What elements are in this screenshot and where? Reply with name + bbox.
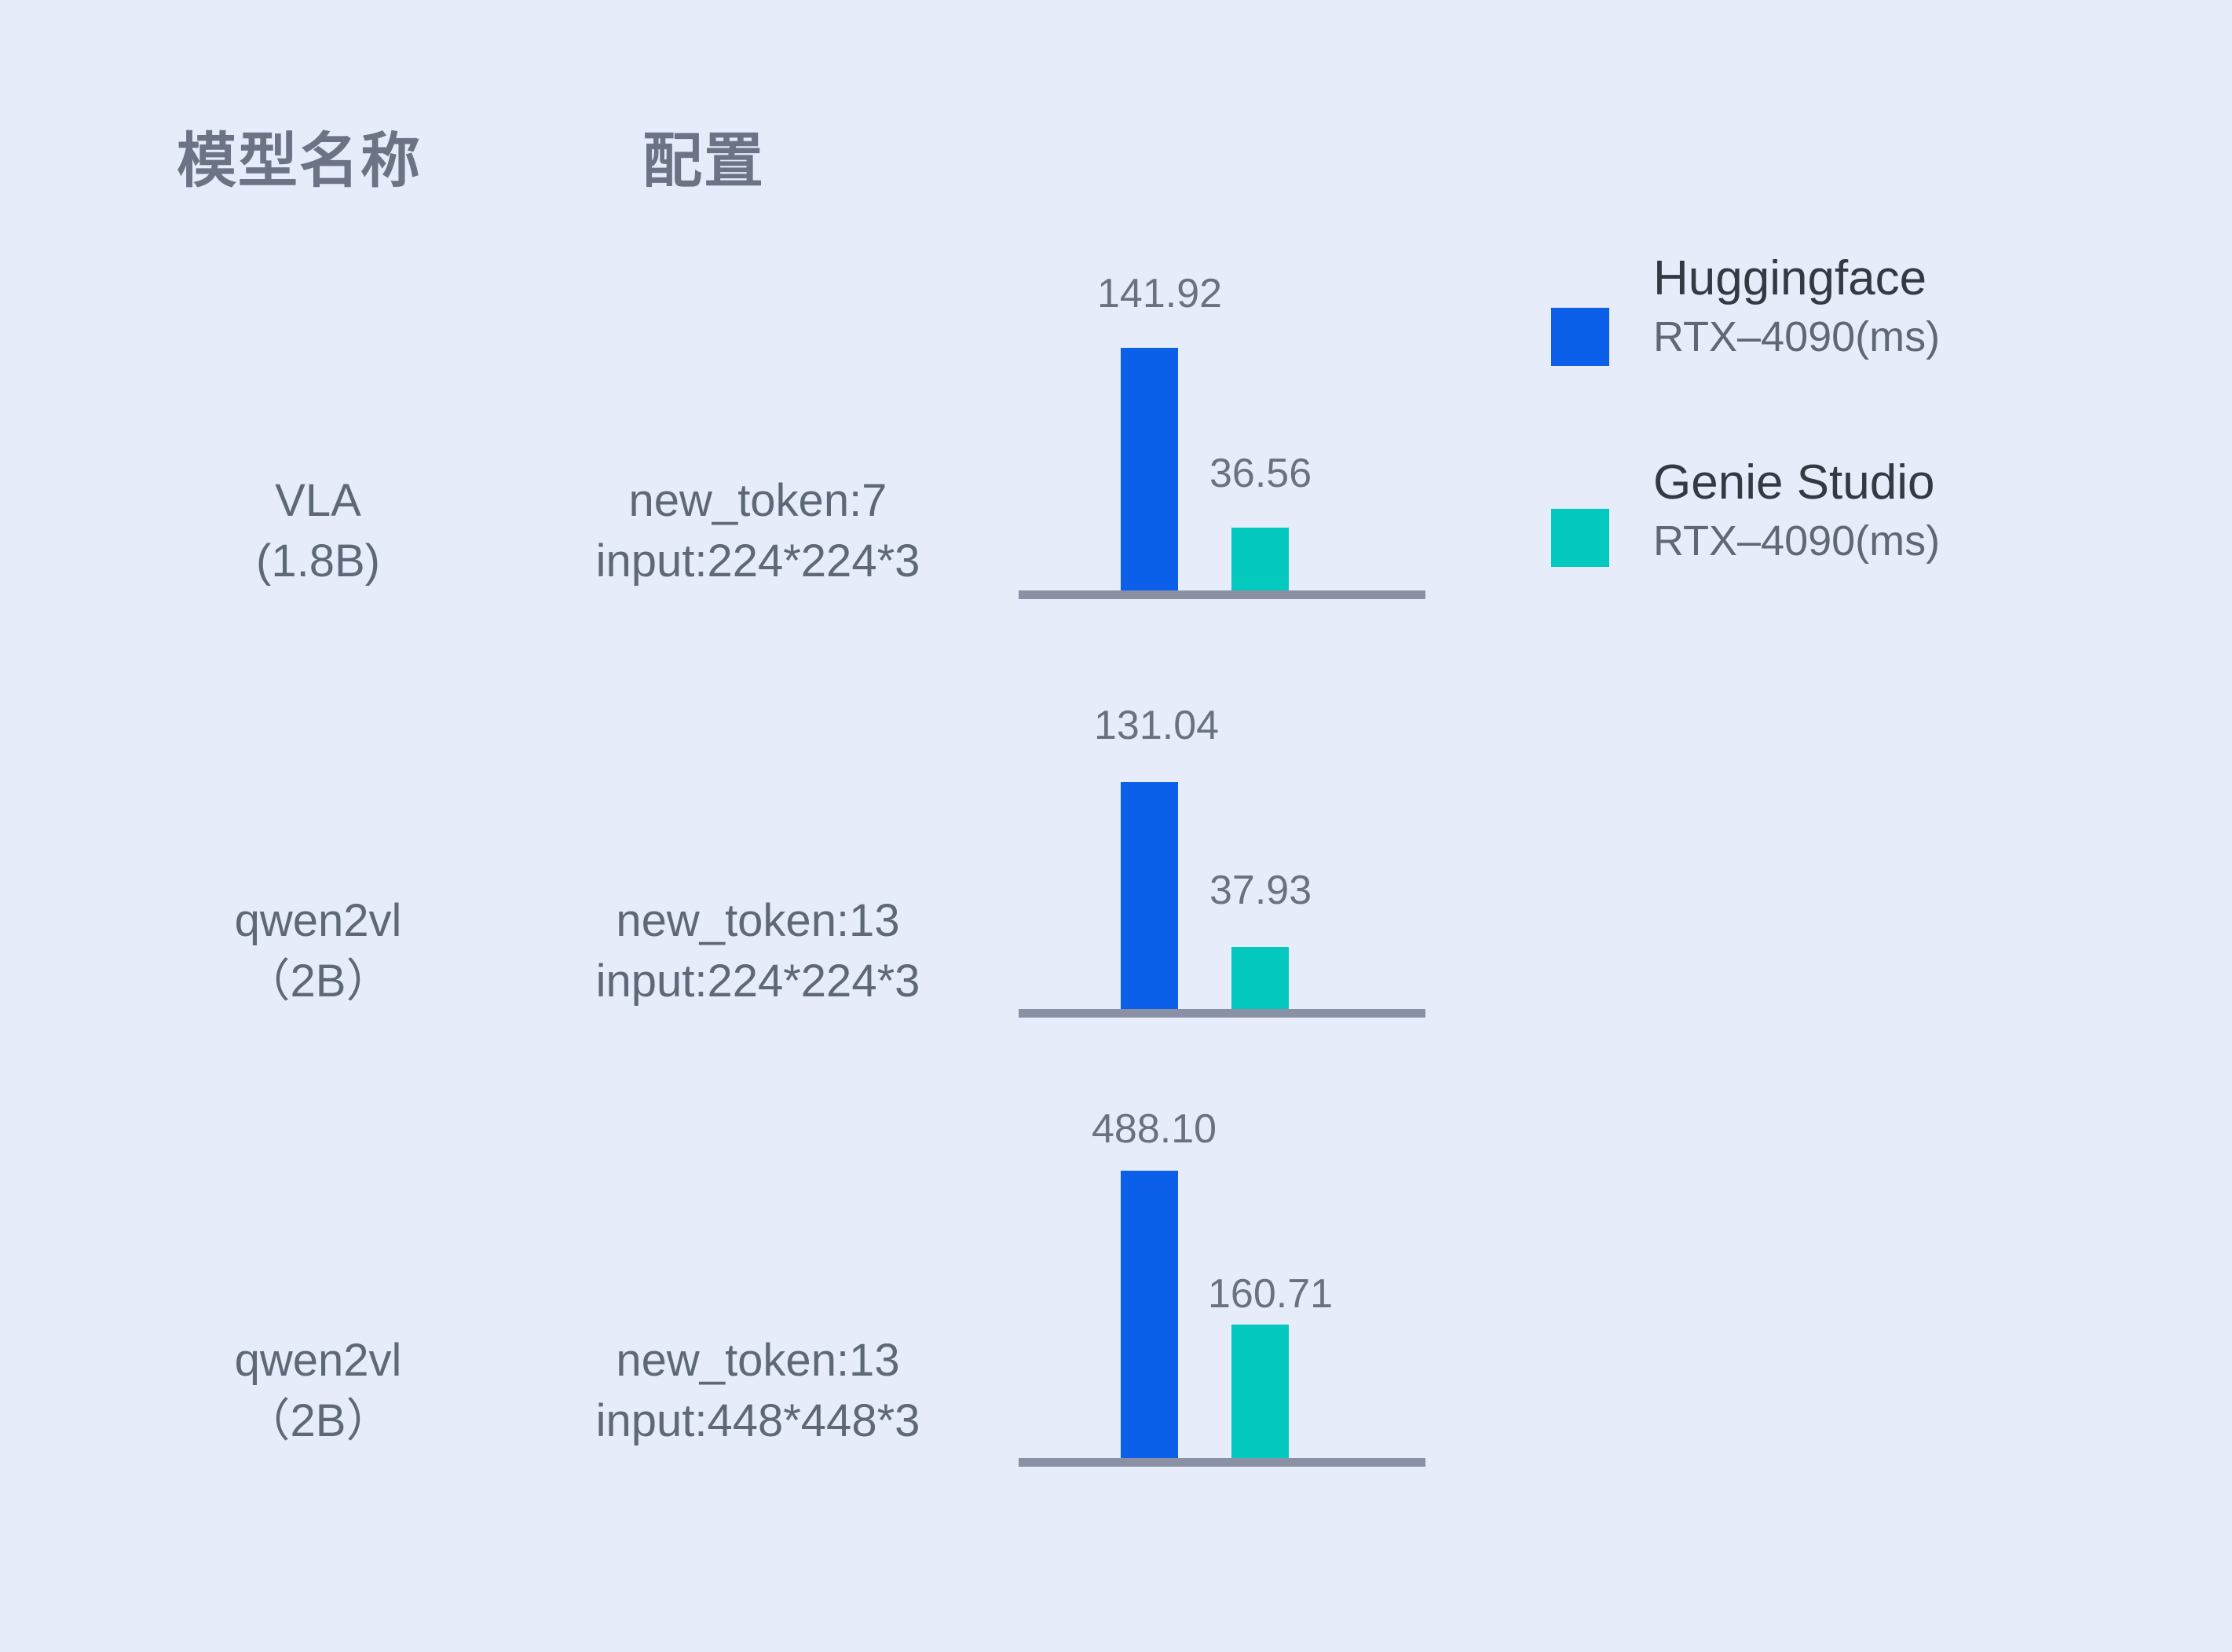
row-config-line2: input:448*448*3 [507, 1391, 1009, 1452]
row-model-name-line1: qwen2vl [235, 895, 402, 946]
bar-huggingface[interactable] [1121, 1171, 1178, 1458]
bar-value-huggingface: 131.04 [1094, 705, 1219, 746]
bar-value-genie-studio: 37.93 [1209, 870, 1312, 911]
row-model-name: qwen2vl （2B） [153, 891, 483, 1011]
row-config-line2: input:224*224*3 [507, 952, 1009, 1012]
bar-genie-studio[interactable] [1231, 528, 1289, 590]
row-model-name-line1: qwen2vl [235, 1335, 402, 1386]
row-config: new_token:13 input:224*224*3 [507, 891, 1009, 1011]
row-model-name: qwen2vl （2B） [153, 1331, 483, 1451]
legend-item-text: Genie Studio RTX–4090(ms) [1653, 455, 1940, 573]
row-model-name-line2: (1.8B) [153, 532, 483, 592]
teal-square-swatch-icon [1551, 509, 1609, 567]
axis-baseline [1019, 590, 1425, 599]
row-config-line1: new_token:7 [629, 475, 887, 526]
bar-value-huggingface: 141.92 [1097, 273, 1222, 314]
legend-item-subtitle: RTX–4090(ms) [1653, 510, 1940, 573]
legend-item-subtitle: RTX–4090(ms) [1653, 305, 1940, 369]
column-header-config: 配置 [642, 132, 765, 192]
bar-panel-row-3 [1019, 1179, 1425, 1458]
bar-huggingface[interactable] [1121, 348, 1178, 590]
axis-baseline [1019, 1458, 1425, 1467]
row-config-line1: new_token:13 [616, 895, 899, 946]
blue-square-swatch-icon [1551, 308, 1609, 366]
row-config-line1: new_token:13 [616, 1335, 899, 1386]
row-model-name-line2: （2B） [153, 1391, 483, 1452]
bar-value-huggingface: 488.10 [1092, 1109, 1217, 1149]
legend-item-title: Genie Studio [1653, 455, 1940, 510]
legend-item-title: Huggingface [1653, 251, 1940, 305]
legend-item-text: Huggingface RTX–4090(ms) [1653, 251, 1940, 369]
bar-genie-studio[interactable] [1231, 947, 1289, 1009]
row-config: new_token:13 input:448*448*3 [507, 1331, 1009, 1451]
bar-huggingface[interactable] [1121, 782, 1178, 1009]
bar-value-genie-studio: 36.56 [1209, 453, 1312, 494]
bar-value-genie-studio: 160.71 [1208, 1274, 1333, 1314]
bar-genie-studio[interactable] [1231, 1325, 1289, 1458]
row-config-line2: input:224*224*3 [507, 532, 1009, 592]
row-model-name-line2: （2B） [153, 952, 483, 1012]
column-header-model-name: 模型名称 [177, 132, 422, 192]
chart-canvas: 模型名称 配置 VLA (1.8B) new_token:7 input:224… [0, 0, 2232, 1652]
axis-baseline [1019, 1009, 1425, 1018]
row-config: new_token:7 input:224*224*3 [507, 471, 1009, 591]
row-model-name-line1: VLA [275, 475, 361, 526]
row-model-name: VLA (1.8B) [153, 471, 483, 591]
